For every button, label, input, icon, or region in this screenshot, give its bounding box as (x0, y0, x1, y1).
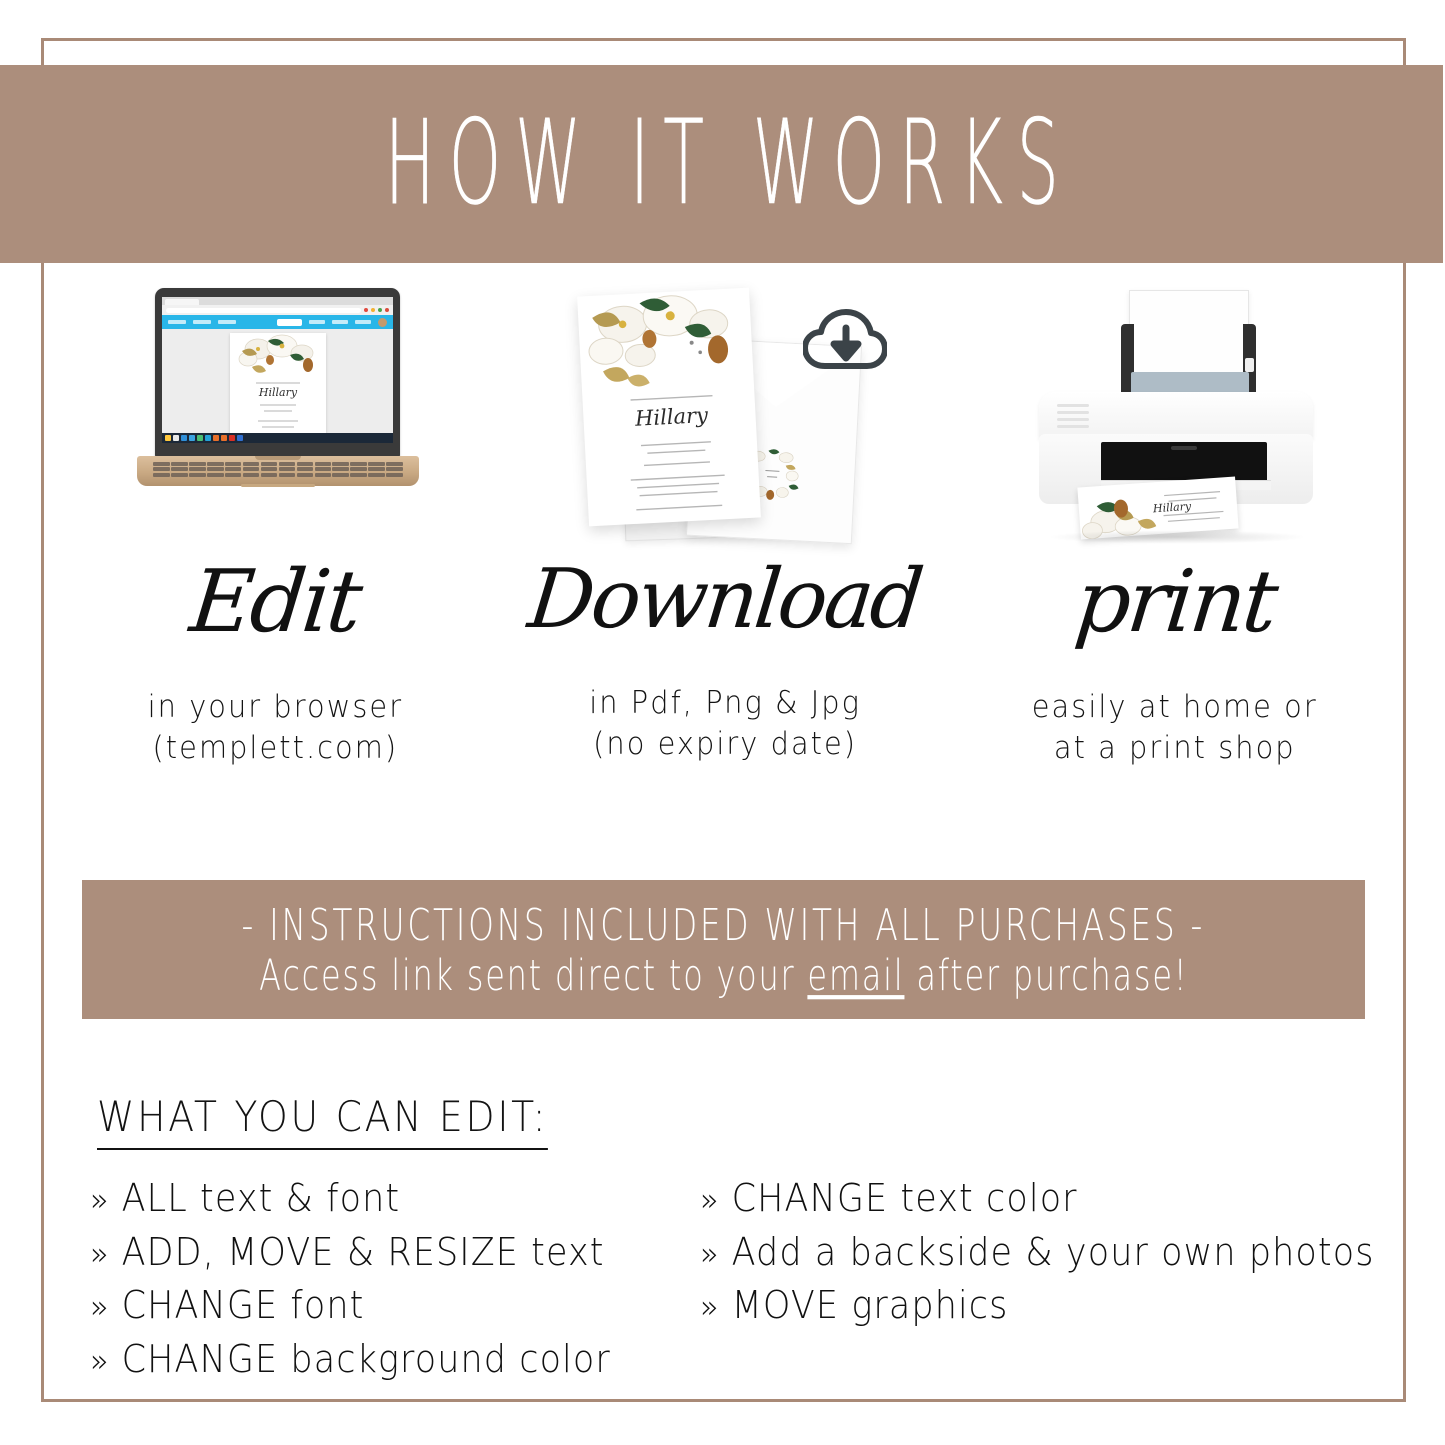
steps-row: Hillary (60, 280, 1390, 810)
list-item: » CHANGE font (90, 1280, 642, 1331)
step-print: Hillary print easily at home or at a pri… (960, 280, 1390, 769)
promo-graphic-page: HOW IT WORKS (0, 0, 1445, 1445)
templett-app-bar (162, 315, 393, 329)
what-you-can-edit-heading: WHAT YOU CAN EDIT: (97, 1092, 548, 1150)
browser-tab-bar (162, 297, 393, 305)
caption-line-1: in your browser (147, 687, 402, 728)
list-item-label: ADD, MOVE & RESIZE text (122, 1227, 605, 1278)
laptop-hinge-notch (255, 456, 301, 460)
edit-list-left: » ALL text & font » ADD, MOVE & RESIZE t… (90, 1173, 690, 1384)
step-script-label-download: Download (525, 559, 925, 641)
svg-text:Hillary: Hillary (1152, 500, 1193, 516)
taskbar-icon (205, 435, 211, 441)
instructions-headline: - INSTRUCTIONS INCLUDED WITH ALL PURCHAS… (242, 899, 1206, 950)
list-item: » CHANGE text color (700, 1173, 1344, 1224)
printer-device: Hillary (1017, 284, 1335, 566)
invitation-card: Hillary (577, 288, 761, 527)
laptop-screen: Hillary (162, 297, 393, 443)
app-menu-layout (332, 320, 348, 324)
chevron-double-right-icon: » (90, 1237, 110, 1270)
app-menu-help (355, 320, 371, 324)
list-item-label: CHANGE background color (122, 1334, 611, 1385)
app-menu-file (168, 320, 186, 324)
caption-line-1: in Pdf, Png & Jpg (589, 683, 861, 724)
email-link[interactable]: email (807, 951, 904, 1000)
laptop-device: Hillary (137, 288, 419, 528)
caption-line-2: at a print shop (1032, 728, 1318, 769)
taskbar-icon (237, 435, 243, 441)
printer-illustration: Hillary (1005, 280, 1345, 565)
step-script-label-print: print (1071, 559, 1279, 645)
invitation-floral-art: Hillary (577, 288, 761, 527)
browser-icon-red (364, 308, 368, 312)
list-item: » MOVE graphics (700, 1280, 1344, 1331)
app-menu-undo (218, 320, 236, 324)
chevron-double-right-icon: » (90, 1290, 110, 1323)
edit-list-right: » CHANGE text color » Add a backside & y… (700, 1173, 1400, 1331)
printer-shadow (1047, 530, 1307, 544)
caption-line-1: easily at home or (1032, 687, 1318, 728)
taskbar-icon (173, 435, 179, 441)
chevron-double-right-icon: » (700, 1290, 720, 1323)
browser-icon-orange (385, 308, 389, 312)
printer-control-panel (1057, 404, 1089, 430)
list-item-label: MOVE graphics (732, 1280, 1009, 1331)
taskbar-icon (189, 435, 195, 441)
taskbar-icon (165, 435, 171, 441)
taskbar-icon (197, 435, 203, 441)
step-edit: Hillary (60, 280, 490, 769)
editor-canvas: Hillary (162, 329, 393, 443)
caption-line-2: (no expiry date) (589, 724, 861, 765)
instructions-subline-after: after purchase! (904, 951, 1188, 1000)
svg-text:Hillary: Hillary (633, 403, 709, 431)
instructions-subline-before: Access link sent direct to your (259, 951, 807, 1000)
floral-invitation-art: Hillary (230, 333, 326, 437)
browser-icon-yellow (371, 308, 375, 312)
chevron-double-right-icon: » (700, 1237, 720, 1270)
svg-text:Hillary: Hillary (257, 386, 297, 399)
os-taskbar (162, 433, 393, 443)
browser-icon-green (378, 308, 382, 312)
download-cloud-icon (803, 308, 887, 374)
taskbar-icon (221, 435, 227, 441)
list-item-label: CHANGE text color (732, 1173, 1078, 1224)
chevron-double-right-icon: » (90, 1344, 110, 1377)
printer-output-slot (1101, 442, 1267, 484)
taskbar-icon (181, 435, 187, 441)
step-caption-print: easily at home or at a print shop (1032, 687, 1318, 769)
laptop-illustration: Hillary (105, 280, 445, 565)
laptop-trackpad (241, 484, 315, 487)
taskbar-icon (213, 435, 219, 441)
app-menu-save (309, 320, 325, 324)
step-caption-download: in Pdf, Png & Jpg (no expiry date) (589, 683, 861, 765)
download-illustration: Hillary (555, 280, 895, 565)
header-banner: HOW IT WORKS (0, 65, 1443, 263)
page-title: HOW IT WORKS (371, 106, 1073, 223)
list-item-label: Add a backside & your own photos (732, 1227, 1375, 1278)
browser-tab (165, 299, 199, 306)
caption-line-2: (templett.com) (147, 728, 402, 769)
browser-url-bar (162, 305, 393, 315)
list-item: » ADD, MOVE & RESIZE text (90, 1227, 642, 1278)
instructions-banner: - INSTRUCTIONS INCLUDED WITH ALL PURCHAS… (82, 880, 1365, 1019)
list-item: » ALL text & font (90, 1173, 642, 1224)
list-item-label: CHANGE font (122, 1280, 365, 1331)
laptop-keyboard (153, 462, 403, 480)
url-input (166, 308, 361, 313)
invitation-preview: Hillary (230, 333, 326, 437)
avatar (378, 318, 387, 327)
taskbar-icon (229, 435, 235, 441)
chevron-double-right-icon: » (700, 1183, 720, 1216)
list-item: » CHANGE background color (90, 1334, 642, 1385)
app-menu-options (193, 320, 211, 324)
step-download: Hillary Download in Pdf, Png & Jpg (no e… (510, 280, 940, 765)
list-item: » Add a backside & your own photos (700, 1227, 1344, 1278)
step-caption-edit: in your browser (templett.com) (147, 687, 402, 769)
step-script-label-edit: Edit (187, 559, 364, 645)
download-button-mock (277, 319, 302, 326)
edit-capabilities-columns: » ALL text & font » ADD, MOVE & RESIZE t… (90, 1173, 1400, 1384)
list-item-label: ALL text & font (122, 1173, 401, 1224)
instructions-subline: Access link sent direct to your email af… (259, 951, 1188, 1000)
invitation-and-envelope: Hillary (565, 286, 885, 556)
laptop-lid: Hillary (155, 288, 400, 458)
chevron-double-right-icon: » (90, 1183, 110, 1216)
